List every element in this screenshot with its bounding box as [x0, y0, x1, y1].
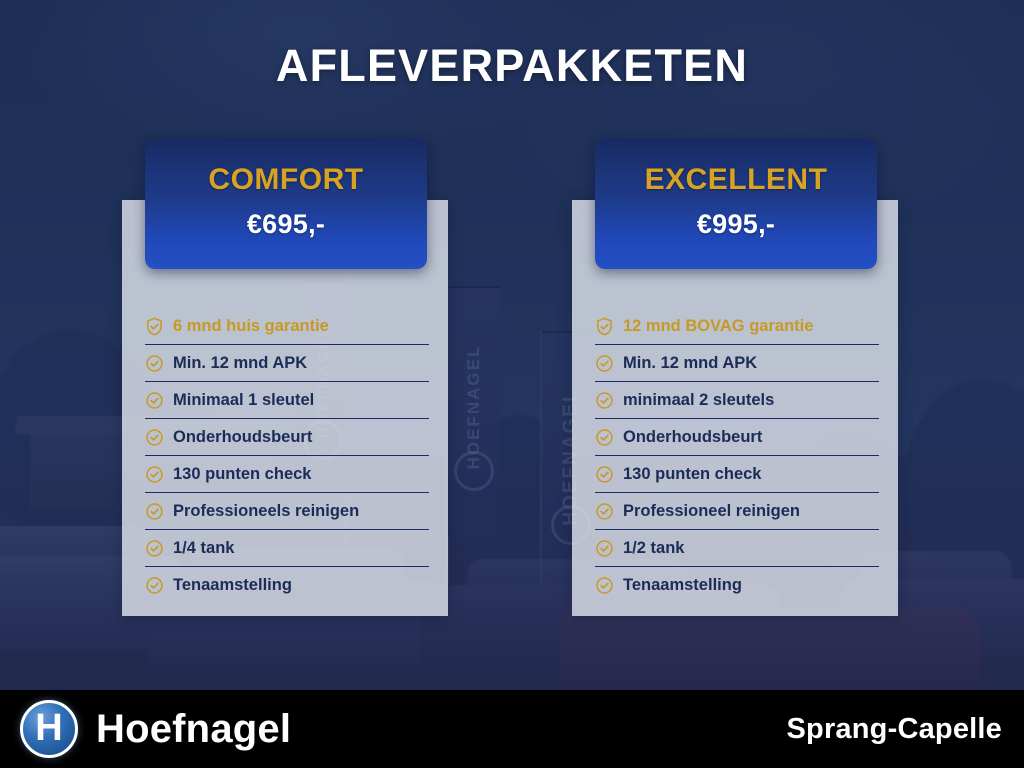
package-feature-item: 6 mnd huis garantie	[145, 308, 429, 345]
package-feature-list: 12 mnd BOVAG garantieMin. 12 mnd APKmini…	[595, 308, 879, 604]
package-feature-item: Tenaamstelling	[595, 567, 879, 604]
footer-location: Sprang-Capelle	[786, 713, 1002, 746]
package-feature-label: Onderhoudsbeurt	[623, 428, 762, 447]
circle-check-icon	[145, 502, 164, 521]
circle-check-icon	[595, 502, 614, 521]
package-card-excellent[interactable]: EXCELLENT €995,- 12 mnd BOVAG garantieMi…	[572, 200, 898, 616]
brand: H Hoefnagel	[20, 700, 291, 758]
package-feature-label: 130 punten check	[623, 465, 761, 484]
package-feature-item: Minimaal 1 sleutel	[145, 382, 429, 419]
package-feature-label: minimaal 2 sleutels	[623, 391, 774, 410]
circle-check-icon	[595, 576, 614, 595]
package-feature-item: Min. 12 mnd APK	[595, 345, 879, 382]
package-feature-item: Onderhoudsbeurt	[595, 419, 879, 456]
circle-check-icon	[595, 354, 614, 373]
package-feature-item: 1/4 tank	[145, 530, 429, 567]
package-feature-label: Min. 12 mnd APK	[623, 354, 757, 373]
package-feature-item: 12 mnd BOVAG garantie	[595, 308, 879, 345]
package-feature-item: 130 punten check	[145, 456, 429, 493]
circle-check-icon	[595, 465, 614, 484]
package-feature-label: 130 punten check	[173, 465, 311, 484]
package-feature-item: Professioneel reinigen	[595, 493, 879, 530]
package-feature-label: 12 mnd BOVAG garantie	[623, 317, 813, 336]
promo-slide: HOEFNAGEL HOEFNAGEL HOEFNAGEL AFLEVERPAK…	[0, 0, 1024, 768]
package-header: COMFORT €695,-	[145, 139, 427, 269]
package-header: EXCELLENT €995,-	[595, 139, 877, 269]
package-feature-item: Onderhoudsbeurt	[145, 419, 429, 456]
package-feature-label: Professioneel reinigen	[623, 502, 800, 521]
package-feature-label: 1/2 tank	[623, 539, 684, 558]
package-feature-item: 1/2 tank	[595, 530, 879, 567]
circle-check-icon	[145, 354, 164, 373]
package-feature-label: Tenaamstelling	[623, 576, 742, 595]
package-name: COMFORT	[145, 163, 427, 197]
package-price: €695,-	[145, 209, 427, 240]
package-feature-label: 1/4 tank	[173, 539, 234, 558]
package-feature-label: Minimaal 1 sleutel	[173, 391, 314, 410]
circle-check-icon	[595, 428, 614, 447]
hoefnagel-logo-icon: H	[20, 700, 78, 758]
package-feature-list: 6 mnd huis garantieMin. 12 mnd APKMinima…	[145, 308, 429, 604]
package-feature-item: Min. 12 mnd APK	[145, 345, 429, 382]
package-feature-label: Tenaamstelling	[173, 576, 292, 595]
package-feature-item: Tenaamstelling	[145, 567, 429, 604]
package-feature-label: Professioneels reinigen	[173, 502, 359, 521]
logo-letter: H	[35, 709, 62, 747]
package-feature-label: Min. 12 mnd APK	[173, 354, 307, 373]
circle-check-icon	[595, 391, 614, 410]
package-feature-item: Professioneels reinigen	[145, 493, 429, 530]
footer-bar: H Hoefnagel Sprang-Capelle	[0, 690, 1024, 768]
package-card-comfort[interactable]: COMFORT €695,- 6 mnd huis garantieMin. 1…	[122, 200, 448, 616]
circle-check-icon	[145, 465, 164, 484]
circle-check-icon	[595, 539, 614, 558]
shield-check-icon	[595, 317, 614, 336]
package-feature-label: 6 mnd huis garantie	[173, 317, 329, 336]
package-feature-label: Onderhoudsbeurt	[173, 428, 312, 447]
shield-check-icon	[145, 317, 164, 336]
circle-check-icon	[145, 576, 164, 595]
brand-name: Hoefnagel	[96, 707, 291, 752]
circle-check-icon	[145, 391, 164, 410]
page-title: AFLEVERPAKKETEN	[0, 40, 1024, 92]
circle-check-icon	[145, 428, 164, 447]
package-name: EXCELLENT	[595, 163, 877, 197]
package-feature-item: 130 punten check	[595, 456, 879, 493]
package-feature-item: minimaal 2 sleutels	[595, 382, 879, 419]
circle-check-icon	[145, 539, 164, 558]
package-price: €995,-	[595, 209, 877, 240]
